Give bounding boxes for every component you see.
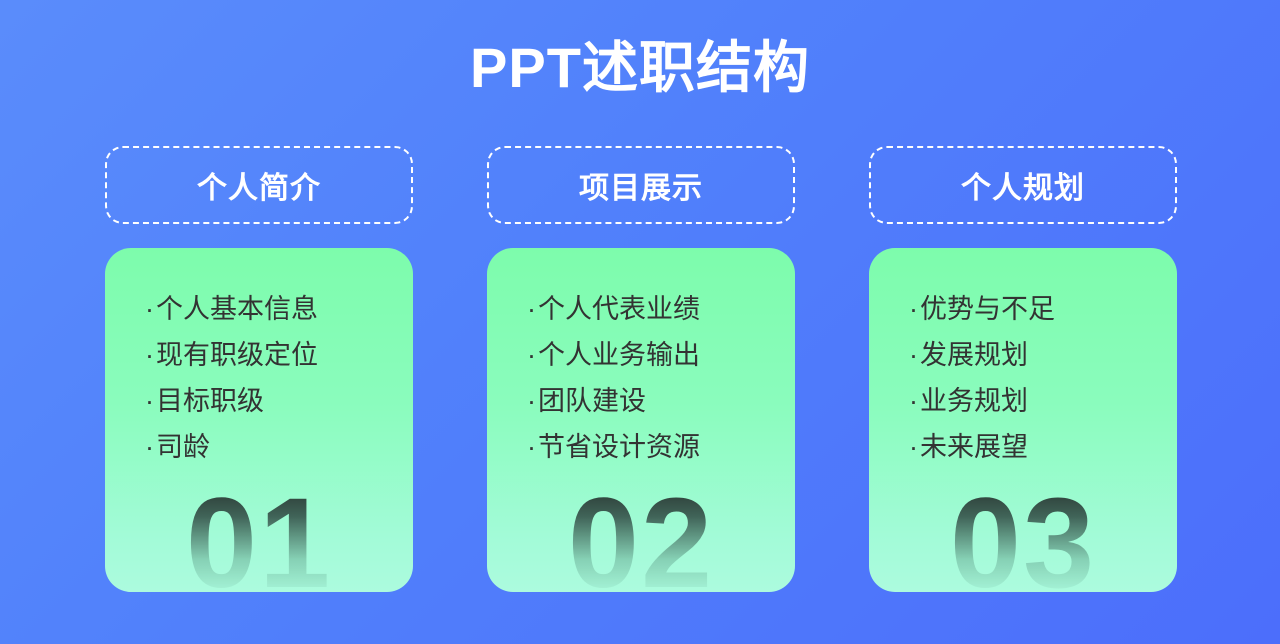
section-pill-label-1: 个人简介 [197,163,321,207]
bullet-icon: · [909,424,918,470]
section-item-list-3: · 优势与不足 · 发展规划 · 业务规划 · 未来展望 [909,286,1159,470]
bullet-icon: · [909,286,918,332]
bullet-icon: · [909,378,918,424]
section-item-list-1: · 个人基本信息 · 现有职级定位 · 目标职级 · 司龄 [145,286,395,470]
bullet-icon: · [527,378,536,424]
list-item-label: 优势与不足 [920,286,1055,332]
list-item-label: 个人基本信息 [156,286,318,332]
bullet-icon: · [145,286,154,332]
list-item-label: 个人业务输出 [538,332,700,378]
section-card-2[interactable]: · 个人代表业绩 · 个人业务输出 · 团队建设 · 节省设计资源 [487,248,795,592]
list-item-label: 团队建设 [538,378,646,424]
section-pill-label-2: 项目展示 [579,163,703,207]
list-item: · 个人基本信息 [145,286,395,332]
list-item: · 现有职级定位 [145,332,395,378]
bullet-icon: · [527,424,536,470]
presentation-slide: PPT述职结构 个人简介 · 个人基本信息 · 现有职级定位 · [0,0,1280,644]
list-item: · 司龄 [145,424,395,470]
list-item-label: 现有职级定位 [156,332,318,378]
list-item: · 发展规划 [909,332,1159,378]
section-number-1: 01 [105,480,413,592]
section-item-list-2: · 个人代表业绩 · 个人业务输出 · 团队建设 · 节省设计资源 [527,286,777,470]
list-item-label: 司龄 [156,424,210,470]
bullet-icon: · [145,378,154,424]
list-item: · 未来展望 [909,424,1159,470]
bullet-icon: · [527,332,536,378]
list-item: · 团队建设 [527,378,777,424]
bullet-icon: · [527,286,536,332]
list-item-label: 业务规划 [920,378,1028,424]
list-item-label: 目标职级 [156,378,264,424]
section-card-1[interactable]: · 个人基本信息 · 现有职级定位 · 目标职级 · 司龄 [105,248,413,592]
list-item-label: 未来展望 [920,424,1028,470]
list-item-label: 发展规划 [920,332,1028,378]
section-pill-2[interactable]: 项目展示 [487,146,795,224]
list-item: · 业务规划 [909,378,1159,424]
structure-column-3: 个人规划 · 优势与不足 · 发展规划 · 业务规划 [869,146,1177,592]
list-item: · 节省设计资源 [527,424,777,470]
structure-column-1: 个人简介 · 个人基本信息 · 现有职级定位 · 目标职级 [105,146,413,592]
section-pill-3[interactable]: 个人规划 [869,146,1177,224]
section-number-3: 03 [869,480,1177,592]
bullet-icon: · [909,332,918,378]
list-item-label: 节省设计资源 [538,424,700,470]
bullet-icon: · [145,332,154,378]
page-title: PPT述职结构 [0,36,1280,100]
bullet-icon: · [145,424,154,470]
list-item-label: 个人代表业绩 [538,286,700,332]
list-item: · 个人代表业绩 [527,286,777,332]
section-card-3[interactable]: · 优势与不足 · 发展规划 · 业务规划 · 未来展望 [869,248,1177,592]
list-item: · 目标职级 [145,378,395,424]
section-pill-1[interactable]: 个人简介 [105,146,413,224]
structure-column-2: 项目展示 · 个人代表业绩 · 个人业务输出 · 团队建设 [487,146,795,592]
section-pill-label-3: 个人规划 [961,163,1085,207]
structure-columns: 个人简介 · 个人基本信息 · 现有职级定位 · 目标职级 [105,146,1177,592]
list-item: · 个人业务输出 [527,332,777,378]
list-item: · 优势与不足 [909,286,1159,332]
section-number-2: 02 [487,480,795,592]
